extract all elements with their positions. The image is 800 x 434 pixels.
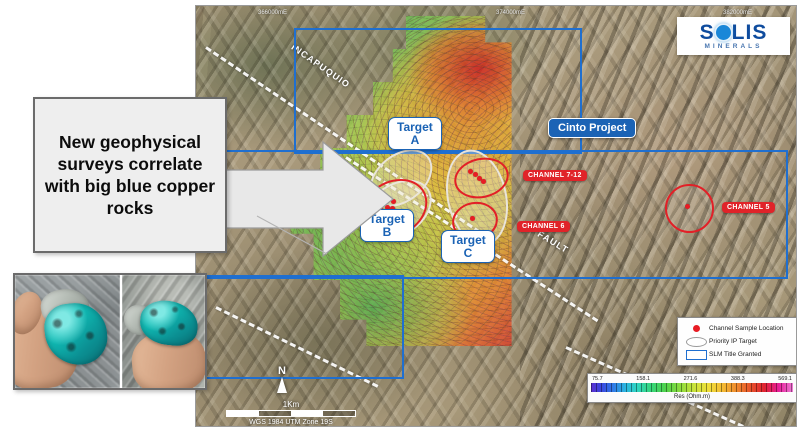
- north-arrow: N: [271, 366, 293, 393]
- blue-rect-icon: [683, 350, 709, 360]
- colorbar-tick: 75.7: [592, 376, 603, 382]
- target-c-letter: C: [464, 246, 473, 260]
- callout-textbox: New geophysical surveys correlate with b…: [33, 97, 227, 253]
- copper-rock-photo-left: [15, 275, 122, 388]
- scale-bar-label: 1Km: [226, 400, 356, 409]
- channel-badge-7-12[interactable]: CHANNEL 7-12: [523, 170, 587, 181]
- tenement-boundary-south[interactable]: [195, 275, 404, 379]
- target-label-c[interactable]: Target C: [441, 230, 495, 263]
- pointer-arrow-icon: [215, 140, 395, 258]
- colorbar-gradient: [591, 383, 793, 392]
- ellipse-icon: [683, 337, 709, 347]
- channel-badge-6[interactable]: CHANNEL 6: [517, 221, 570, 232]
- legend-item-sample-location: Channel Sample Location: [683, 322, 796, 335]
- legend-label: SLM Title Granted: [709, 351, 761, 358]
- legend-label: Priority IP Target: [709, 338, 757, 345]
- channel-badge-5[interactable]: CHANNEL 5: [722, 202, 775, 213]
- colorbar-tick: 271.6: [684, 376, 698, 382]
- target-a-letter: A: [411, 133, 420, 147]
- resistivity-colorbar: 75.7 158.1 271.6 388.3 569.1 Res (Ohm.m): [587, 373, 797, 403]
- map-legend: Channel Sample Location Priority IP Targ…: [677, 317, 797, 366]
- legend-item-priority-ip-target: Priority IP Target: [683, 335, 796, 348]
- north-arrow-icon: [277, 377, 287, 393]
- solis-minerals-logo: S LIS MINERALS: [677, 17, 790, 55]
- colorbar-ticks: 75.7 158.1 271.6 388.3 569.1: [591, 376, 793, 382]
- project-label-cinto[interactable]: Cinto Project: [548, 118, 636, 138]
- rock-photos-inset: [13, 273, 207, 390]
- sun-circle-icon: [716, 25, 731, 40]
- scale-bar-track: [226, 410, 356, 417]
- copper-rock-photo-right: [122, 275, 205, 388]
- sample-dot[interactable]: [685, 204, 690, 209]
- coord-tick-mid: 374000mE: [496, 10, 525, 16]
- scale-bar: 1Km WGS 1984 UTM Zone 19S: [226, 400, 356, 426]
- colorbar-tick: 388.3: [731, 376, 745, 382]
- coord-tick-east: 382000mE: [723, 10, 752, 16]
- channel-outline-5[interactable]: [665, 184, 714, 233]
- scale-bar-segment: [259, 411, 291, 416]
- crs-label: WGS 1984 UTM Zone 19S: [226, 419, 356, 426]
- scale-bar-segment: [227, 411, 259, 416]
- legend-label: Channel Sample Location: [709, 325, 783, 332]
- sample-dot[interactable]: [470, 216, 475, 221]
- legend-item-slm-title: SLM Title Granted: [683, 348, 796, 361]
- logo-subtitle: MINERALS: [705, 43, 763, 50]
- colorbar-tick: 158.1: [636, 376, 650, 382]
- scale-bar-segment: [323, 411, 355, 416]
- sample-dot[interactable]: [481, 179, 486, 184]
- callout-text: New geophysical surveys correlate with b…: [35, 131, 225, 220]
- colorbar-tick: 569.1: [778, 376, 792, 382]
- logo-letters-lis: LIS: [732, 23, 768, 42]
- red-dot-icon: [683, 325, 709, 332]
- colorbar-title: Res (Ohm.m): [591, 393, 793, 401]
- north-label: N: [271, 366, 293, 376]
- coord-tick-west: 366000mE: [258, 10, 287, 16]
- target-label-a[interactable]: Target A: [388, 117, 442, 150]
- logo-wordmark: S LIS: [700, 23, 768, 42]
- scale-bar-segment: [291, 411, 323, 416]
